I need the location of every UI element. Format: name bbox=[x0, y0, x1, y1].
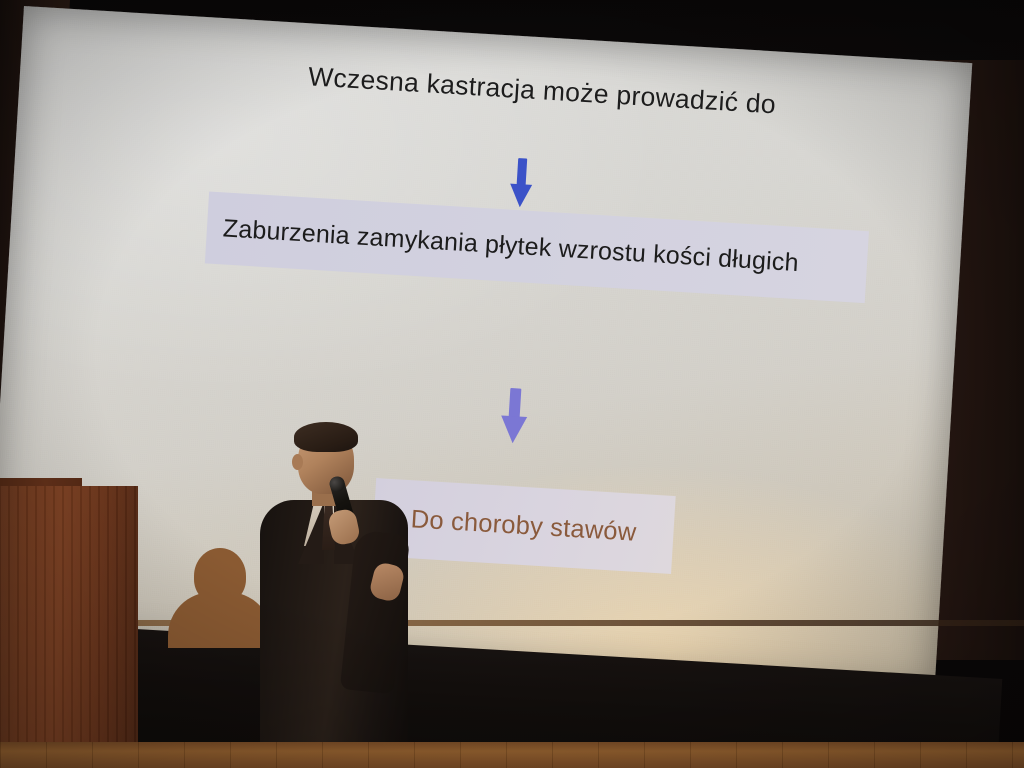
lectern-wood-grain bbox=[0, 486, 138, 768]
slide-title: Wczesna kastracja może prowadzić do bbox=[307, 61, 828, 123]
presenter-ear bbox=[292, 454, 303, 470]
wooden-lectern bbox=[0, 486, 138, 768]
slide-box-disorder: Zaburzenia zamykania płytek wzrostu kośc… bbox=[205, 191, 869, 303]
stage-apron bbox=[0, 620, 1024, 760]
screen-surface: Wczesna kastracja może prowadzić do Zabu… bbox=[0, 6, 972, 694]
presenter bbox=[252, 424, 412, 768]
stage-edge-trim bbox=[0, 620, 1024, 626]
photo-scene: Wczesna kastracja może prowadzić do Zabu… bbox=[0, 0, 1024, 768]
floor-plank-lines bbox=[0, 742, 1024, 768]
slide-box-joint-disease: Do choroby stawów bbox=[372, 478, 676, 574]
arrow-1-shaft bbox=[517, 158, 528, 186]
arrow-down-2-icon bbox=[497, 387, 532, 445]
slide-content: Wczesna kastracja może prowadzić do Zabu… bbox=[0, 6, 972, 694]
wooden-floor bbox=[0, 742, 1024, 768]
arrow-2-head bbox=[500, 415, 528, 444]
presenter-hair bbox=[294, 422, 358, 452]
arrow-down-1-icon bbox=[505, 157, 538, 207]
arrow-1-head bbox=[509, 184, 532, 208]
projection-screen: Wczesna kastracja może prowadzić do Zabu… bbox=[0, 6, 972, 702]
slide-box-joint-disease-label: Do choroby stawów bbox=[410, 505, 637, 548]
slide-box-disorder-label: Zaburzenia zamykania płytek wzrostu kośc… bbox=[222, 214, 799, 278]
arrow-2-shaft bbox=[509, 388, 522, 419]
